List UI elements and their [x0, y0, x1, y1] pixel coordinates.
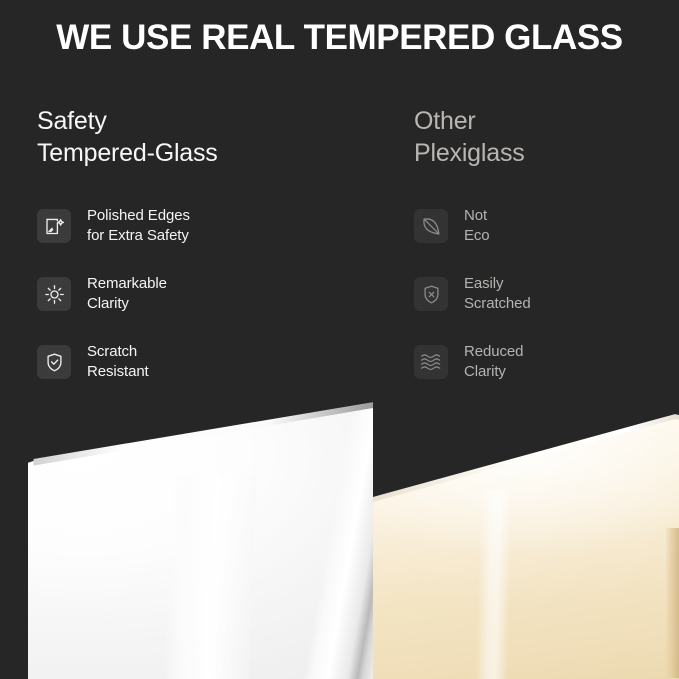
product-comparison-infographic: WE USE REAL TEMPERED GLASS Safety Temper…	[0, 0, 679, 679]
feature-row-polished-edges: Polished Edges for Extra Safety	[37, 209, 367, 243]
feature-label-not-eco: Not Eco	[464, 206, 490, 247]
comparison-column-plexiglass: Other Plexiglass Not Eco	[414, 106, 679, 169]
clarity-sun-icon	[37, 277, 71, 311]
polished-edges-icon	[37, 209, 71, 243]
shield-x-icon	[414, 277, 448, 311]
plexiglass-panel-highlight	[372, 411, 679, 679]
feature-label-remarkable-clarity: Remarkable Clarity	[87, 274, 167, 315]
feature-label-reduced-clarity: Reduced Clarity	[464, 342, 523, 383]
tempered-glass-panel-reflection	[163, 474, 257, 679]
plexiglass-panel-reflection	[475, 490, 512, 679]
column-title-tempered-glass: Safety Tempered-Glass	[37, 106, 367, 169]
feature-label-easily-scratched: Easily Scratched	[464, 274, 531, 315]
feature-row-not-eco: Not Eco	[414, 209, 679, 243]
shield-check-icon	[37, 345, 71, 379]
page-title: WE USE REAL TEMPERED GLASS	[0, 17, 679, 59]
feature-row-easily-scratched: Easily Scratched	[414, 277, 679, 311]
feature-row-scratch-resistant: Scratch Resistant	[37, 345, 367, 379]
feature-list-tempered-glass: Polished Edges for Extra Safety Remarkab…	[37, 209, 367, 413]
comparison-column-tempered-glass: Safety Tempered-Glass Polished Edges for…	[37, 106, 367, 169]
feature-list-plexiglass: Not Eco Easily Scratched	[414, 209, 679, 413]
column-title-plexiglass: Other Plexiglass	[414, 106, 679, 169]
feature-row-reduced-clarity: Reduced Clarity	[414, 345, 679, 379]
product-photo	[0, 398, 679, 679]
leaf-crossed-out-icon	[414, 209, 448, 243]
wavy-lines-icon	[414, 345, 448, 379]
feature-label-scratch-resistant: Scratch Resistant	[87, 342, 149, 383]
plexiglass-panel-edge	[665, 528, 679, 678]
feature-row-remarkable-clarity: Remarkable Clarity	[37, 277, 367, 311]
feature-label-polished-edges: Polished Edges for Extra Safety	[87, 206, 190, 247]
